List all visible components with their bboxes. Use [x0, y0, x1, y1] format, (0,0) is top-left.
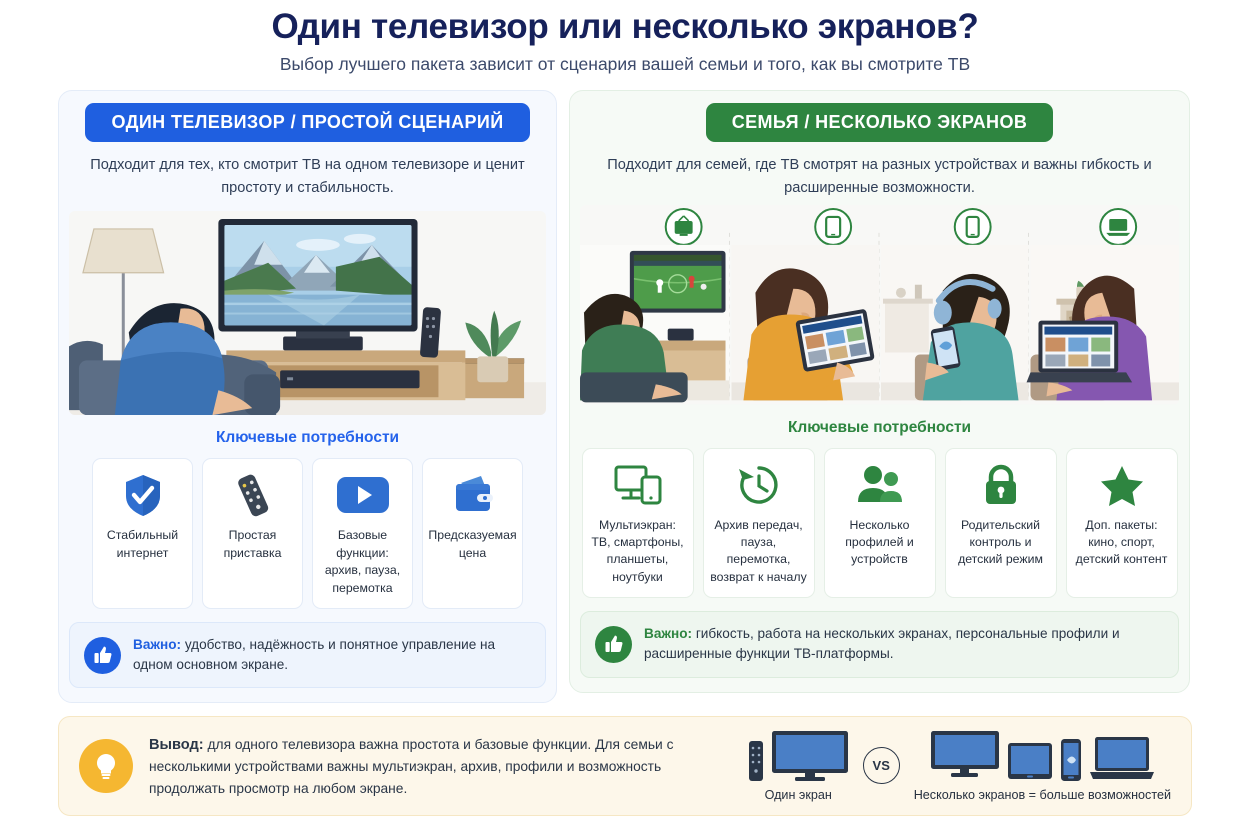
need-card-label: Базовые функции: архив, пауза, перемотка [319, 527, 406, 597]
need-card-stable-internet[interactable]: Стабильный интернет [92, 458, 193, 609]
need-card-predictable-price[interactable]: Предсказуемая цена [422, 458, 523, 609]
need-card-parental-control[interactable]: Родительский контроль и детский режим [945, 448, 1057, 599]
multi-screen-description: Подходит для семей, где ТВ смотрят на ра… [580, 154, 1179, 199]
need-card-label: Простая приставка [209, 527, 296, 562]
need-card-simple-settop-box[interactable]: Простая приставка [202, 458, 303, 609]
single-tv-illustration [69, 211, 546, 415]
vs-badge: VS [863, 747, 900, 784]
tv-icon [771, 730, 849, 782]
left-needs-title: Ключевые потребности [69, 429, 546, 447]
wallet-icon [451, 472, 495, 518]
need-card-label: Стабильный интернет [99, 527, 186, 562]
device-comparison: Один экран VS [748, 730, 1171, 802]
note-body: удобство, надёжность и понятное управлен… [133, 637, 495, 672]
conclusion-body: для одного телевизора важна простота и б… [149, 737, 673, 796]
history-clock-icon [737, 462, 781, 508]
need-card-multiscreen[interactable]: Мультиэкран: ТВ, смартфоны, планшеты, но… [582, 448, 694, 599]
right-needs-cards: Мультиэкран: ТВ, смартфоны, планшеты, но… [580, 448, 1179, 599]
users-icon [856, 462, 904, 508]
page-title: Один телевизор или несколько экранов? [0, 6, 1250, 48]
conclusion-label: Вывод: [149, 737, 204, 753]
tv-icon [930, 730, 1000, 782]
thumbs-up-icon [84, 637, 121, 674]
left-needs-cards: Стабильный интернет Простая пр [69, 458, 546, 609]
comparison-columns: ОДИН ТЕЛЕВИЗОР / ПРОСТОЙ СЦЕНАРИЙ Подход… [0, 90, 1250, 703]
note-body: гибкость, работа на нескольких экранах, … [644, 626, 1120, 661]
smartphone-icon [1060, 738, 1082, 782]
multi-screen-devices [930, 730, 1155, 782]
star-icon [1099, 462, 1145, 508]
need-card-label: Архив передач, пауза, перемотка, возврат… [710, 517, 808, 587]
lock-icon [982, 462, 1020, 508]
page-subtitle: Выбор лучшего пакета зависит от сценария… [0, 54, 1250, 75]
right-important-note: Важно: гибкость, работа на нескольких эк… [580, 611, 1179, 677]
multi-screen-panel: СЕМЬЯ / НЕСКОЛЬКО ЭКРАНОВ Подходит для с… [569, 90, 1190, 693]
left-note-text: Важно: удобство, надёжность и понятное у… [133, 635, 531, 675]
need-card-label: Мультиэкран: ТВ, смартфоны, планшеты, но… [589, 517, 687, 587]
single-screen-caption: Один экран [765, 788, 832, 802]
single-tv-badge: ОДИН ТЕЛЕВИЗОР / ПРОСТОЙ СЦЕНАРИЙ [85, 103, 529, 142]
page-header: Один телевизор или несколько экранов? Вы… [0, 0, 1250, 75]
thumbs-up-icon [595, 626, 632, 663]
laptop-icon [1089, 736, 1155, 782]
remote-control-icon [232, 472, 274, 518]
need-card-extra-packages[interactable]: Доп. пакеты: кино, спорт, детский контен… [1066, 448, 1178, 599]
play-button-icon [336, 472, 390, 518]
single-tv-panel: ОДИН ТЕЛЕВИЗОР / ПРОСТОЙ СЦЕНАРИЙ Подход… [58, 90, 557, 703]
need-card-label: Несколько профилей и устройств [831, 517, 929, 569]
need-card-profiles[interactable]: Несколько профилей и устройств [824, 448, 936, 599]
need-card-basic-functions[interactable]: Базовые функции: архив, пауза, перемотка [312, 458, 413, 609]
lightbulb-icon [79, 739, 133, 793]
need-card-label: Доп. пакеты: кино, спорт, детский контен… [1073, 517, 1171, 569]
need-card-archive[interactable]: Архив передач, пауза, перемотка, возврат… [703, 448, 815, 599]
multi-screen-illustration [580, 205, 1179, 404]
need-card-label: Родительский контроль и детский режим [952, 517, 1050, 569]
single-screen-devices [748, 730, 849, 782]
conclusion-text: Вывод: для одного телевизора важна прост… [149, 734, 732, 799]
single-screen-group: Один экран [748, 730, 849, 802]
left-important-note: Важно: удобство, надёжность и понятное у… [69, 622, 546, 688]
remote-icon [748, 740, 764, 782]
note-label: Важно: [644, 626, 692, 641]
multi-screen-group: Несколько экранов = больше возможностей [914, 730, 1171, 802]
multi-screen-caption: Несколько экранов = больше возможностей [914, 788, 1171, 802]
need-card-label: Предсказуемая цена [428, 527, 516, 562]
note-label: Важно: [133, 637, 181, 652]
shield-check-icon [123, 472, 163, 518]
right-note-text: Важно: гибкость, работа на нескольких эк… [644, 624, 1164, 664]
conclusion-bar: Вывод: для одного телевизора важна прост… [58, 716, 1192, 816]
multi-screen-badge: СЕМЬЯ / НЕСКОЛЬКО ЭКРАНОВ [706, 103, 1054, 142]
multiscreen-icon [614, 462, 662, 508]
single-tv-description: Подходит для тех, кто смотрит ТВ на одно… [69, 154, 546, 199]
right-needs-title: Ключевые потребности [580, 419, 1179, 437]
tablet-icon [1007, 742, 1053, 782]
